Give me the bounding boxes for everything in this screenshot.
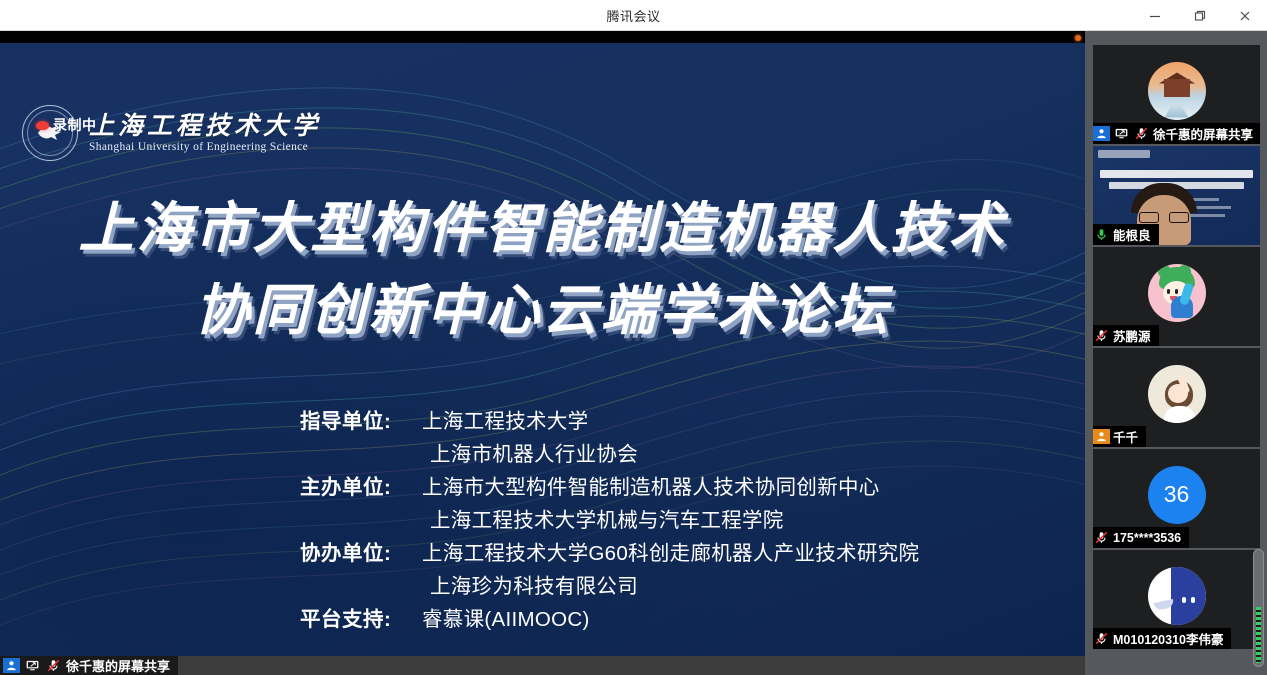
org-value: 睿慕课(AIIMOOC) [422, 603, 590, 636]
shared-screen-region[interactable]: 上海工程技术大学 Shanghai University of Engineer… [0, 31, 1085, 675]
participant-tile[interactable]: M010120310李伟豪 [1093, 550, 1260, 649]
screen-share-presenter-name: 徐千惠的屏幕共享 [66, 656, 170, 675]
org-row: 指导单位: 上海市机器人行业协会 [300, 438, 1060, 471]
recording-dot-icon [36, 121, 49, 130]
participant-name: 千千 [1113, 427, 1138, 446]
participant-label: M010120310李伟豪 [1093, 628, 1231, 649]
share-top-strip [0, 31, 1085, 43]
participant-list: 徐千惠的屏幕共享 [1085, 31, 1267, 675]
org-row: 主办单位: 上海工程技术大学机械与汽车工程学院 [300, 504, 1060, 537]
participant-label: 能根良 [1093, 224, 1159, 245]
minimize-button[interactable] [1132, 0, 1177, 31]
org-row: 协办单位: 上海工程技术大学G60科创走廊机器人产业技术研究院 [300, 537, 1060, 570]
org-row: 指导单位: 上海工程技术大学 [300, 405, 1060, 438]
avatar-qq-penguin [1148, 567, 1206, 625]
avatar [1148, 567, 1206, 625]
university-name-block: 上海工程技术大学 Shanghai University of Engineer… [89, 113, 321, 152]
participant-name: 175****3536 [1113, 531, 1181, 545]
close-button[interactable] [1222, 0, 1267, 31]
maximize-button[interactable] [1177, 0, 1222, 31]
participant-name: 能根良 [1113, 225, 1151, 244]
window-title: 腾讯会议 [606, 6, 660, 25]
microphone-muted-icon [1093, 530, 1110, 545]
university-name-en: Shanghai University of Engineering Scien… [89, 141, 321, 153]
avatar [1148, 365, 1206, 423]
microphone-active-icon [1093, 227, 1110, 242]
participant-tile[interactable]: 能根良 [1093, 146, 1260, 245]
avatar [1148, 264, 1206, 322]
host-badge-icon [1093, 429, 1110, 444]
microphone-muted-icon [45, 658, 62, 673]
recording-indicator: 录制中 [36, 115, 97, 135]
participant-name: 徐千惠的屏幕共享 [1153, 124, 1253, 143]
org-value: 上海工程技术大学 [422, 405, 588, 438]
org-value: 上海工程技术大学G60科创走廊机器人产业技术研究院 [422, 537, 919, 570]
avatar-pier-photo [1148, 62, 1206, 120]
screen-share-presenter-pill: 徐千惠的屏幕共享 [0, 656, 178, 675]
avatar-anime-bear [1148, 264, 1206, 322]
microphone-muted-icon [1133, 126, 1150, 141]
host-person-icon [3, 658, 20, 673]
avatar [1148, 62, 1206, 120]
avatar: 36 [1148, 466, 1206, 524]
participant-name: M010120310李伟豪 [1113, 629, 1223, 648]
screen-share-icon [1113, 126, 1130, 141]
microphone-muted-icon [1093, 328, 1110, 343]
participant-label: 175****3536 [1093, 527, 1189, 548]
org-label: 平台支持: [300, 603, 422, 636]
microphone-muted-icon [1093, 631, 1110, 646]
share-indicator-dot-icon [1075, 35, 1081, 41]
avatar-number-text: 36 [1164, 481, 1190, 508]
org-value: 上海市机器人行业协会 [422, 438, 638, 471]
participant-tile[interactable]: 苏鹏源 [1093, 247, 1260, 346]
slide-title-block: 上海市大型构件智能制造机器人技术 协同创新中心云端学术论坛 [0, 193, 1085, 346]
participant-name: 苏鹏源 [1113, 326, 1151, 345]
org-row: 主办单位: 上海市大型构件智能制造机器人技术协同创新中心 [300, 471, 1060, 504]
participant-panel-scrollbar[interactable] [1253, 549, 1264, 667]
slide-title-line-2: 协同创新中心云端学术论坛 [0, 275, 1085, 345]
participant-label: 苏鹏源 [1093, 325, 1159, 346]
participant-tile[interactable]: 36 175****3536 [1093, 449, 1260, 548]
org-value: 上海市大型构件智能制造机器人技术协同创新中心 [422, 471, 880, 504]
org-value: 上海工程技术大学机械与汽车工程学院 [422, 504, 784, 537]
university-name-cn: 上海工程技术大学 [89, 113, 321, 139]
app-body: 上海工程技术大学 Shanghai University of Engineer… [0, 31, 1267, 675]
avatar-number-badge: 36 [1148, 466, 1206, 524]
participant-tile[interactable]: 千千 [1093, 348, 1260, 447]
org-value: 上海珍为科技有限公司 [422, 570, 638, 603]
org-label: 指导单位: [300, 405, 422, 438]
org-row: 协办单位: 上海珍为科技有限公司 [300, 570, 1060, 603]
screen-share-icon [24, 658, 41, 673]
volume-meter-icon [1256, 607, 1261, 663]
avatar-girl-illustration [1148, 365, 1206, 423]
participant-tile[interactable]: 徐千惠的屏幕共享 [1093, 45, 1260, 144]
participant-label: 徐千惠的屏幕共享 [1093, 123, 1260, 144]
slide-organizations: 指导单位: 上海工程技术大学 指导单位: 上海市机器人行业协会 主办单位: 上海… [300, 405, 1060, 636]
screen-share-status-bar: 徐千惠的屏幕共享 [0, 656, 1085, 675]
host-person-icon [1093, 126, 1110, 141]
org-row: 平台支持: 睿慕课(AIIMOOC) [300, 603, 1060, 636]
window-title-bar: 腾讯会议 [0, 0, 1267, 31]
participant-label: 千千 [1093, 426, 1146, 447]
participant-panel[interactable]: 徐千惠的屏幕共享 [1085, 31, 1267, 675]
recording-label: 录制中 [53, 115, 97, 135]
org-label: 协办单位: [300, 537, 422, 570]
window-controls [1132, 0, 1267, 31]
presentation-slide: 上海工程技术大学 Shanghai University of Engineer… [0, 43, 1085, 656]
slide-title-line-1: 上海市大型构件智能制造机器人技术 [0, 193, 1085, 263]
org-label: 主办单位: [300, 471, 422, 504]
